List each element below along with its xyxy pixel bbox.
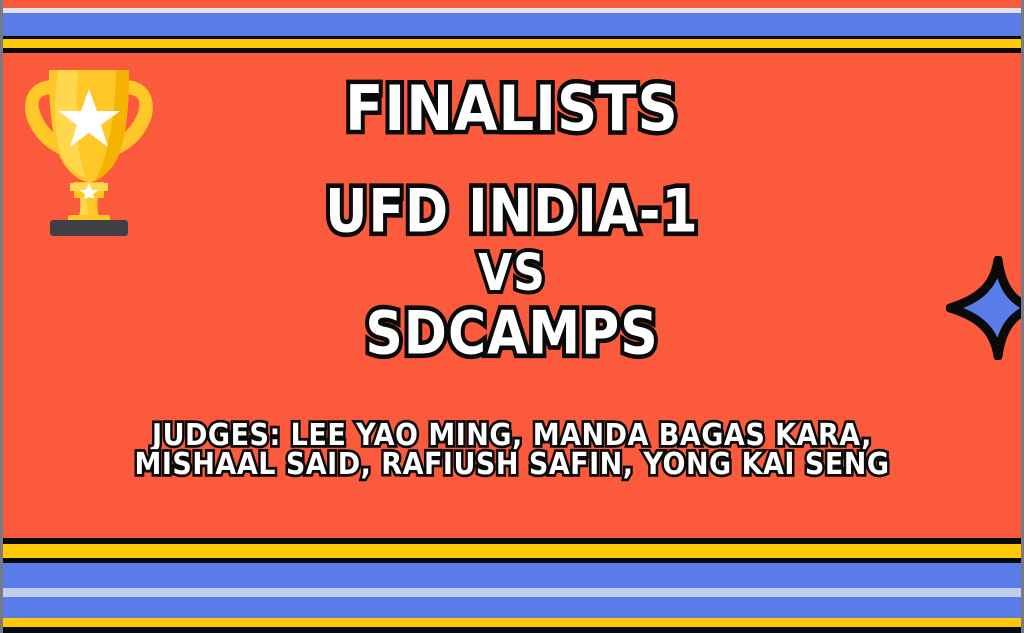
team-b-name: SDCAMPS: [365, 304, 658, 364]
versus-label: VS: [478, 249, 546, 300]
stripe-yellow-top: [0, 39, 1024, 48]
stripe-yellow-bottom-2: [0, 618, 1024, 627]
team-a-name: UFD INDIA-1: [325, 182, 698, 242]
matchup-block: UFD INDIA-1 VS SDCAMPS: [325, 186, 698, 360]
trophy-icon: [16, 52, 162, 238]
stripe-black-bottom-3: [0, 627, 1024, 633]
judges-line-1: JUDGES: LEE YAO MING, MANDA BAGAS KARA,: [152, 420, 872, 450]
announcement-slide: FINALISTS UFD INDIA-1 VS SDCAMPS JUDGES:…: [0, 0, 1024, 633]
judges-block: JUDGES: LEE YAO MING, MANDA BAGAS KARA, …: [134, 422, 889, 478]
stripe-yellow-bottom-1: [0, 544, 1024, 558]
stripe-orange-top: [0, 0, 1024, 8]
judges-line-2: MISHAAL SAID, RAFIUSH SAFIN, YONG KAI SE…: [134, 449, 889, 479]
four-point-star-icon: [946, 256, 1024, 360]
stripe-blue-top: [0, 13, 1024, 36]
stripe-blue-bottom-2: [0, 597, 1024, 618]
page-title: FINALISTS: [345, 79, 679, 142]
stripe-light-blue-bottom: [0, 588, 1024, 597]
stripe-blue-bottom-1: [0, 563, 1024, 588]
left-page-edge: [0, 0, 3, 633]
